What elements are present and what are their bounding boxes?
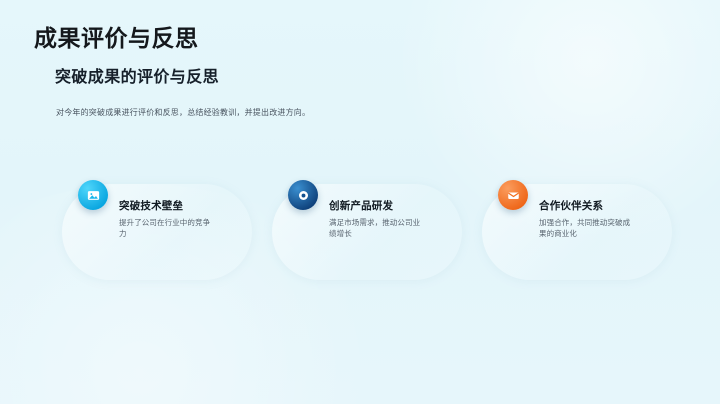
card-item[interactable]: 突破技术壁垒 提升了公司在行业中的竞争力 — [62, 184, 252, 280]
page-title: 成果评价与反思 — [34, 26, 199, 51]
card-text: 创新产品研发 满足市场需求，推动公司业绩增长 — [329, 200, 449, 240]
card-description: 加强合作，共同推动突破成果的商业化 — [539, 217, 635, 240]
image-icon — [78, 180, 108, 210]
card-description: 满足市场需求，推动公司业绩增长 — [329, 217, 425, 240]
card-list: 突破技术壁垒 提升了公司在行业中的竞争力 创新产品研发 满足市场需求，推动公司业… — [62, 184, 672, 280]
target-ring-icon — [288, 180, 318, 210]
section-description: 对今年的突破成果进行评价和反思，总结经验教训，并提出改进方向。 — [56, 108, 310, 118]
card-text: 合作伙伴关系 加强合作，共同推动突破成果的商业化 — [539, 200, 659, 240]
envelope-icon — [498, 180, 528, 210]
card-text: 突破技术壁垒 提升了公司在行业中的竞争力 — [119, 200, 239, 240]
card-item[interactable]: 创新产品研发 满足市场需求，推动公司业绩增长 — [272, 184, 462, 280]
section-title: 突破成果的评价与反思 — [55, 69, 219, 87]
card-title: 创新产品研发 — [329, 200, 449, 213]
card-title: 合作伙伴关系 — [539, 200, 659, 213]
card-item[interactable]: 合作伙伴关系 加强合作，共同推动突破成果的商业化 — [482, 184, 672, 280]
card-title: 突破技术壁垒 — [119, 200, 239, 213]
slide-canvas: 成果评价与反思 突破成果的评价与反思 对今年的突破成果进行评价和反思，总结经验教… — [0, 0, 720, 404]
card-description: 提升了公司在行业中的竞争力 — [119, 217, 215, 240]
